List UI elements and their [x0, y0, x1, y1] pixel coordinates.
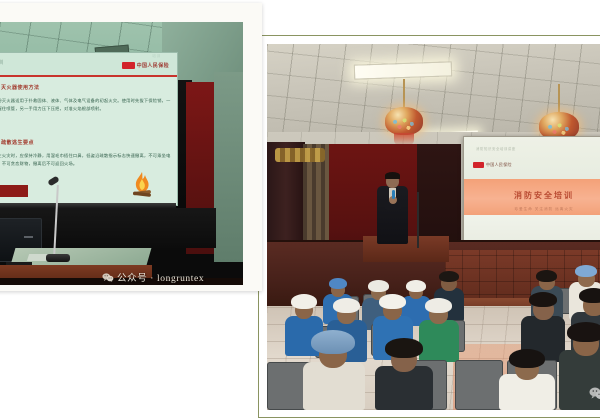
picc-mark: [122, 62, 135, 69]
white-work-cap: [406, 280, 426, 292]
picc-brand-text: 中国人民保险: [137, 62, 169, 69]
right-photo-frame: 消防知识安全培训讲座 中国人民保险 消防安全培训 珍爱生命 关注消防 远离火灾: [258, 35, 600, 418]
dark-hair: [567, 322, 600, 342]
audience-member: [375, 366, 433, 410]
blue-work-cap: [311, 330, 355, 354]
white-work-cap: [333, 298, 360, 313]
slide-body-2: 发生火灾时，应保持冷静，用湿毛巾捂住口鼻，低姿沿疏散指示标志快速撤离，不可乘坐电…: [0, 152, 171, 168]
slide-body-1: 干粉灭火器适用于扑救固体、液体、气体及电气设备的初起火灾。使用时先拔下保险销，一…: [0, 97, 171, 113]
speaker-hair: [385, 172, 400, 179]
picc-logo: 中国人民保险: [122, 62, 169, 69]
right-photo: 消防知识安全培训讲座 中国人民保险 消防安全培训 珍爱生命 关注消防 远离火灾: [267, 44, 600, 410]
left-photo-frame: 培训 培训 中国人民保险 灭火器使用方法 干粉灭火器适用于扑救固体、液体、气体及…: [0, 3, 262, 291]
slide-upper-area: [464, 137, 600, 179]
slide-heading-2: 疏散逃生要点: [1, 139, 34, 146]
collage-canvas: 消防知识安全培训讲座 中国人民保险 消防安全培训 珍爱生命 关注消防 远离火灾: [0, 0, 600, 420]
slide-header-rule: [0, 75, 177, 77]
monitor-label: [24, 236, 33, 238]
white-work-cap: [379, 294, 406, 309]
handheld-microphone: [392, 190, 395, 199]
projection-screen: 培训 培训 中国人民保险 灭火器使用方法 干粉灭火器适用于扑救固体、液体、气体及…: [0, 52, 178, 206]
picc-logo: 中国人民保险: [473, 162, 512, 168]
blue-work-cap: [575, 265, 597, 277]
white-work-cap: [368, 280, 389, 292]
picc-mark: [473, 162, 484, 168]
slide-faint-header: 培训: [152, 54, 161, 59]
dark-hair: [385, 338, 423, 358]
dark-hair: [579, 288, 600, 303]
chair: [455, 360, 503, 410]
watermark: 公众号 · longruntex: [102, 270, 204, 284]
watermark-text: 公众号 · longruntex: [117, 270, 204, 284]
wechat-icon: [589, 387, 600, 400]
chandelier-icon: [385, 79, 423, 151]
blue-work-cap: [329, 278, 347, 289]
white-work-cap: [291, 294, 317, 309]
picc-brand-text: 中国人民保险: [486, 162, 512, 168]
slide-corner-label: 培训: [0, 59, 3, 66]
audience-member: [419, 320, 459, 362]
audience-member: [303, 362, 365, 410]
wall-decoration: [275, 148, 325, 162]
microphone-base: [46, 254, 70, 262]
slide-faint-header: 消防知识安全培训讲座: [476, 146, 516, 151]
wall-red-strip: [0, 185, 28, 197]
dark-hair: [509, 349, 545, 368]
wechat-icon: [102, 273, 114, 282]
side-wall: [214, 72, 243, 262]
dark-hair: [536, 270, 557, 282]
dark-hair: [529, 292, 557, 307]
campfire-icon: [130, 171, 154, 199]
left-photo: 培训 培训 中国人民保险 灭火器使用方法 干粉灭火器适用于扑救固体、液体、气体及…: [0, 22, 243, 285]
projection-screen: 消防知识安全培训讲座 中国人民保险 消防安全培训 珍爱生命 关注消防 远离火灾: [463, 136, 600, 246]
white-work-cap: [425, 298, 452, 313]
slide-heading-1: 灭火器使用方法: [1, 84, 40, 91]
slide-subtitle: 珍爱生命 关注消防 远离火灾: [464, 207, 600, 212]
slide-title: 消防安全培训: [464, 190, 600, 201]
microphone-stand: [417, 192, 419, 248]
audience-member: [559, 350, 600, 410]
dark-hair: [439, 271, 459, 282]
